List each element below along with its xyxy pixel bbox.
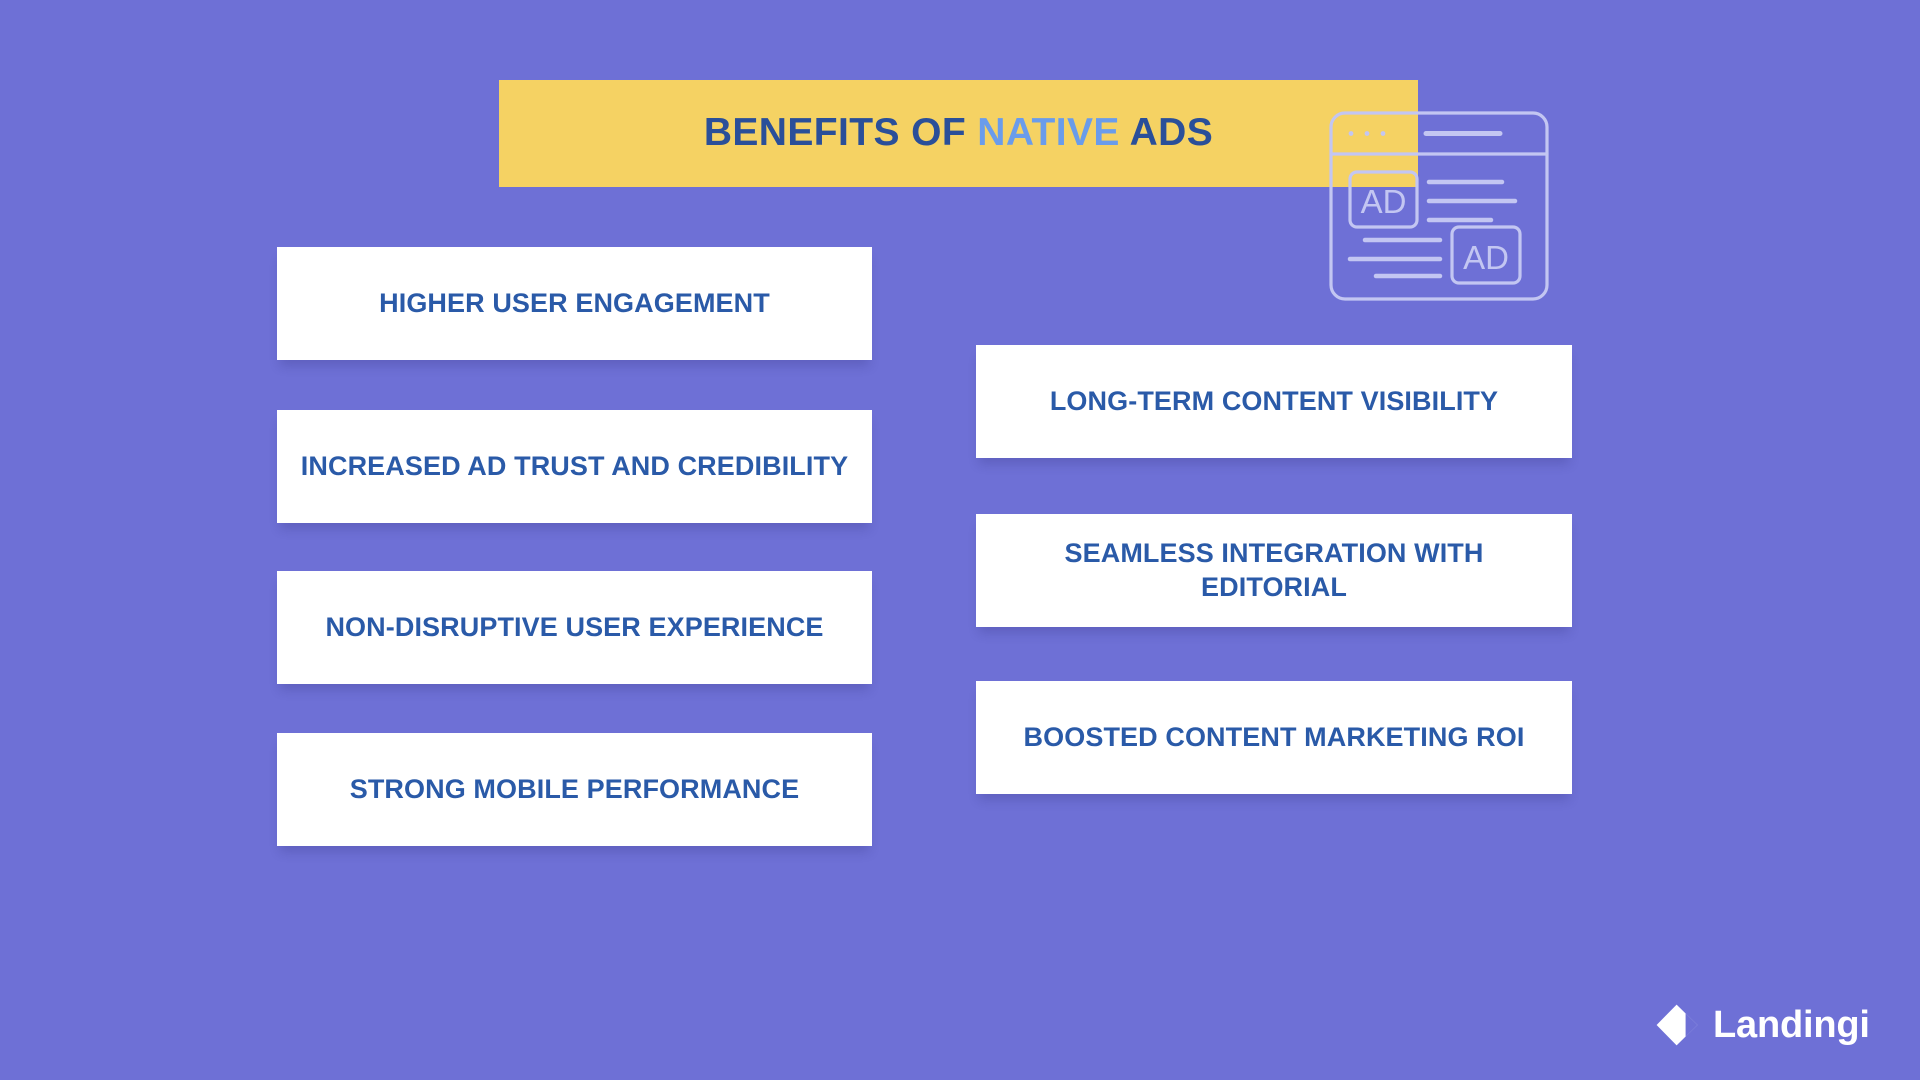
benefit-card-label: HIGHER USER ENGAGEMENT: [379, 287, 770, 321]
benefit-card-label: INCREASED AD TRUST AND CREDIBILITY: [301, 450, 848, 484]
page-title: BENEFITS OF NATIVE ADS: [704, 112, 1213, 155]
native-ad-illustration-icon: AD AD: [1328, 110, 1550, 302]
benefit-card[interactable]: INCREASED AD TRUST AND CREDIBILITY: [277, 410, 872, 523]
benefit-card[interactable]: BOOSTED CONTENT MARKETING ROI: [976, 681, 1572, 794]
benefit-card[interactable]: HIGHER USER ENGAGEMENT: [277, 247, 872, 360]
benefit-card-label: BOOSTED CONTENT MARKETING ROI: [1024, 721, 1525, 755]
title-suffix: ADS: [1120, 111, 1213, 154]
title-prefix: BENEFITS OF: [704, 111, 977, 154]
benefit-card[interactable]: SEAMLESS INTEGRATION WITH EDITORIAL: [976, 514, 1572, 627]
benefit-card-label: STRONG MOBILE PERFORMANCE: [350, 773, 800, 807]
benefit-card-label: SEAMLESS INTEGRATION WITH EDITORIAL: [994, 537, 1554, 605]
title-highlight-word: NATIVE: [977, 111, 1120, 154]
landingi-diamond-icon: [1655, 1003, 1699, 1047]
landingi-logo[interactable]: Landingi: [1655, 1003, 1870, 1047]
benefit-card[interactable]: STRONG MOBILE PERFORMANCE: [277, 733, 872, 846]
slide-canvas: BENEFITS OF NATIVE ADS AD AD HIGHER USER…: [0, 0, 1920, 1080]
svg-text:AD: AD: [1361, 183, 1407, 220]
svg-text:AD: AD: [1463, 239, 1509, 276]
benefit-card-label: LONG-TERM CONTENT VISIBILITY: [1050, 385, 1498, 419]
benefit-card-label: NON-DISRUPTIVE USER EXPERIENCE: [325, 611, 823, 645]
title-banner: BENEFITS OF NATIVE ADS: [499, 80, 1418, 187]
landingi-wordmark: Landingi: [1713, 1006, 1870, 1044]
benefit-card[interactable]: LONG-TERM CONTENT VISIBILITY: [976, 345, 1572, 458]
benefit-card[interactable]: NON-DISRUPTIVE USER EXPERIENCE: [277, 571, 872, 684]
